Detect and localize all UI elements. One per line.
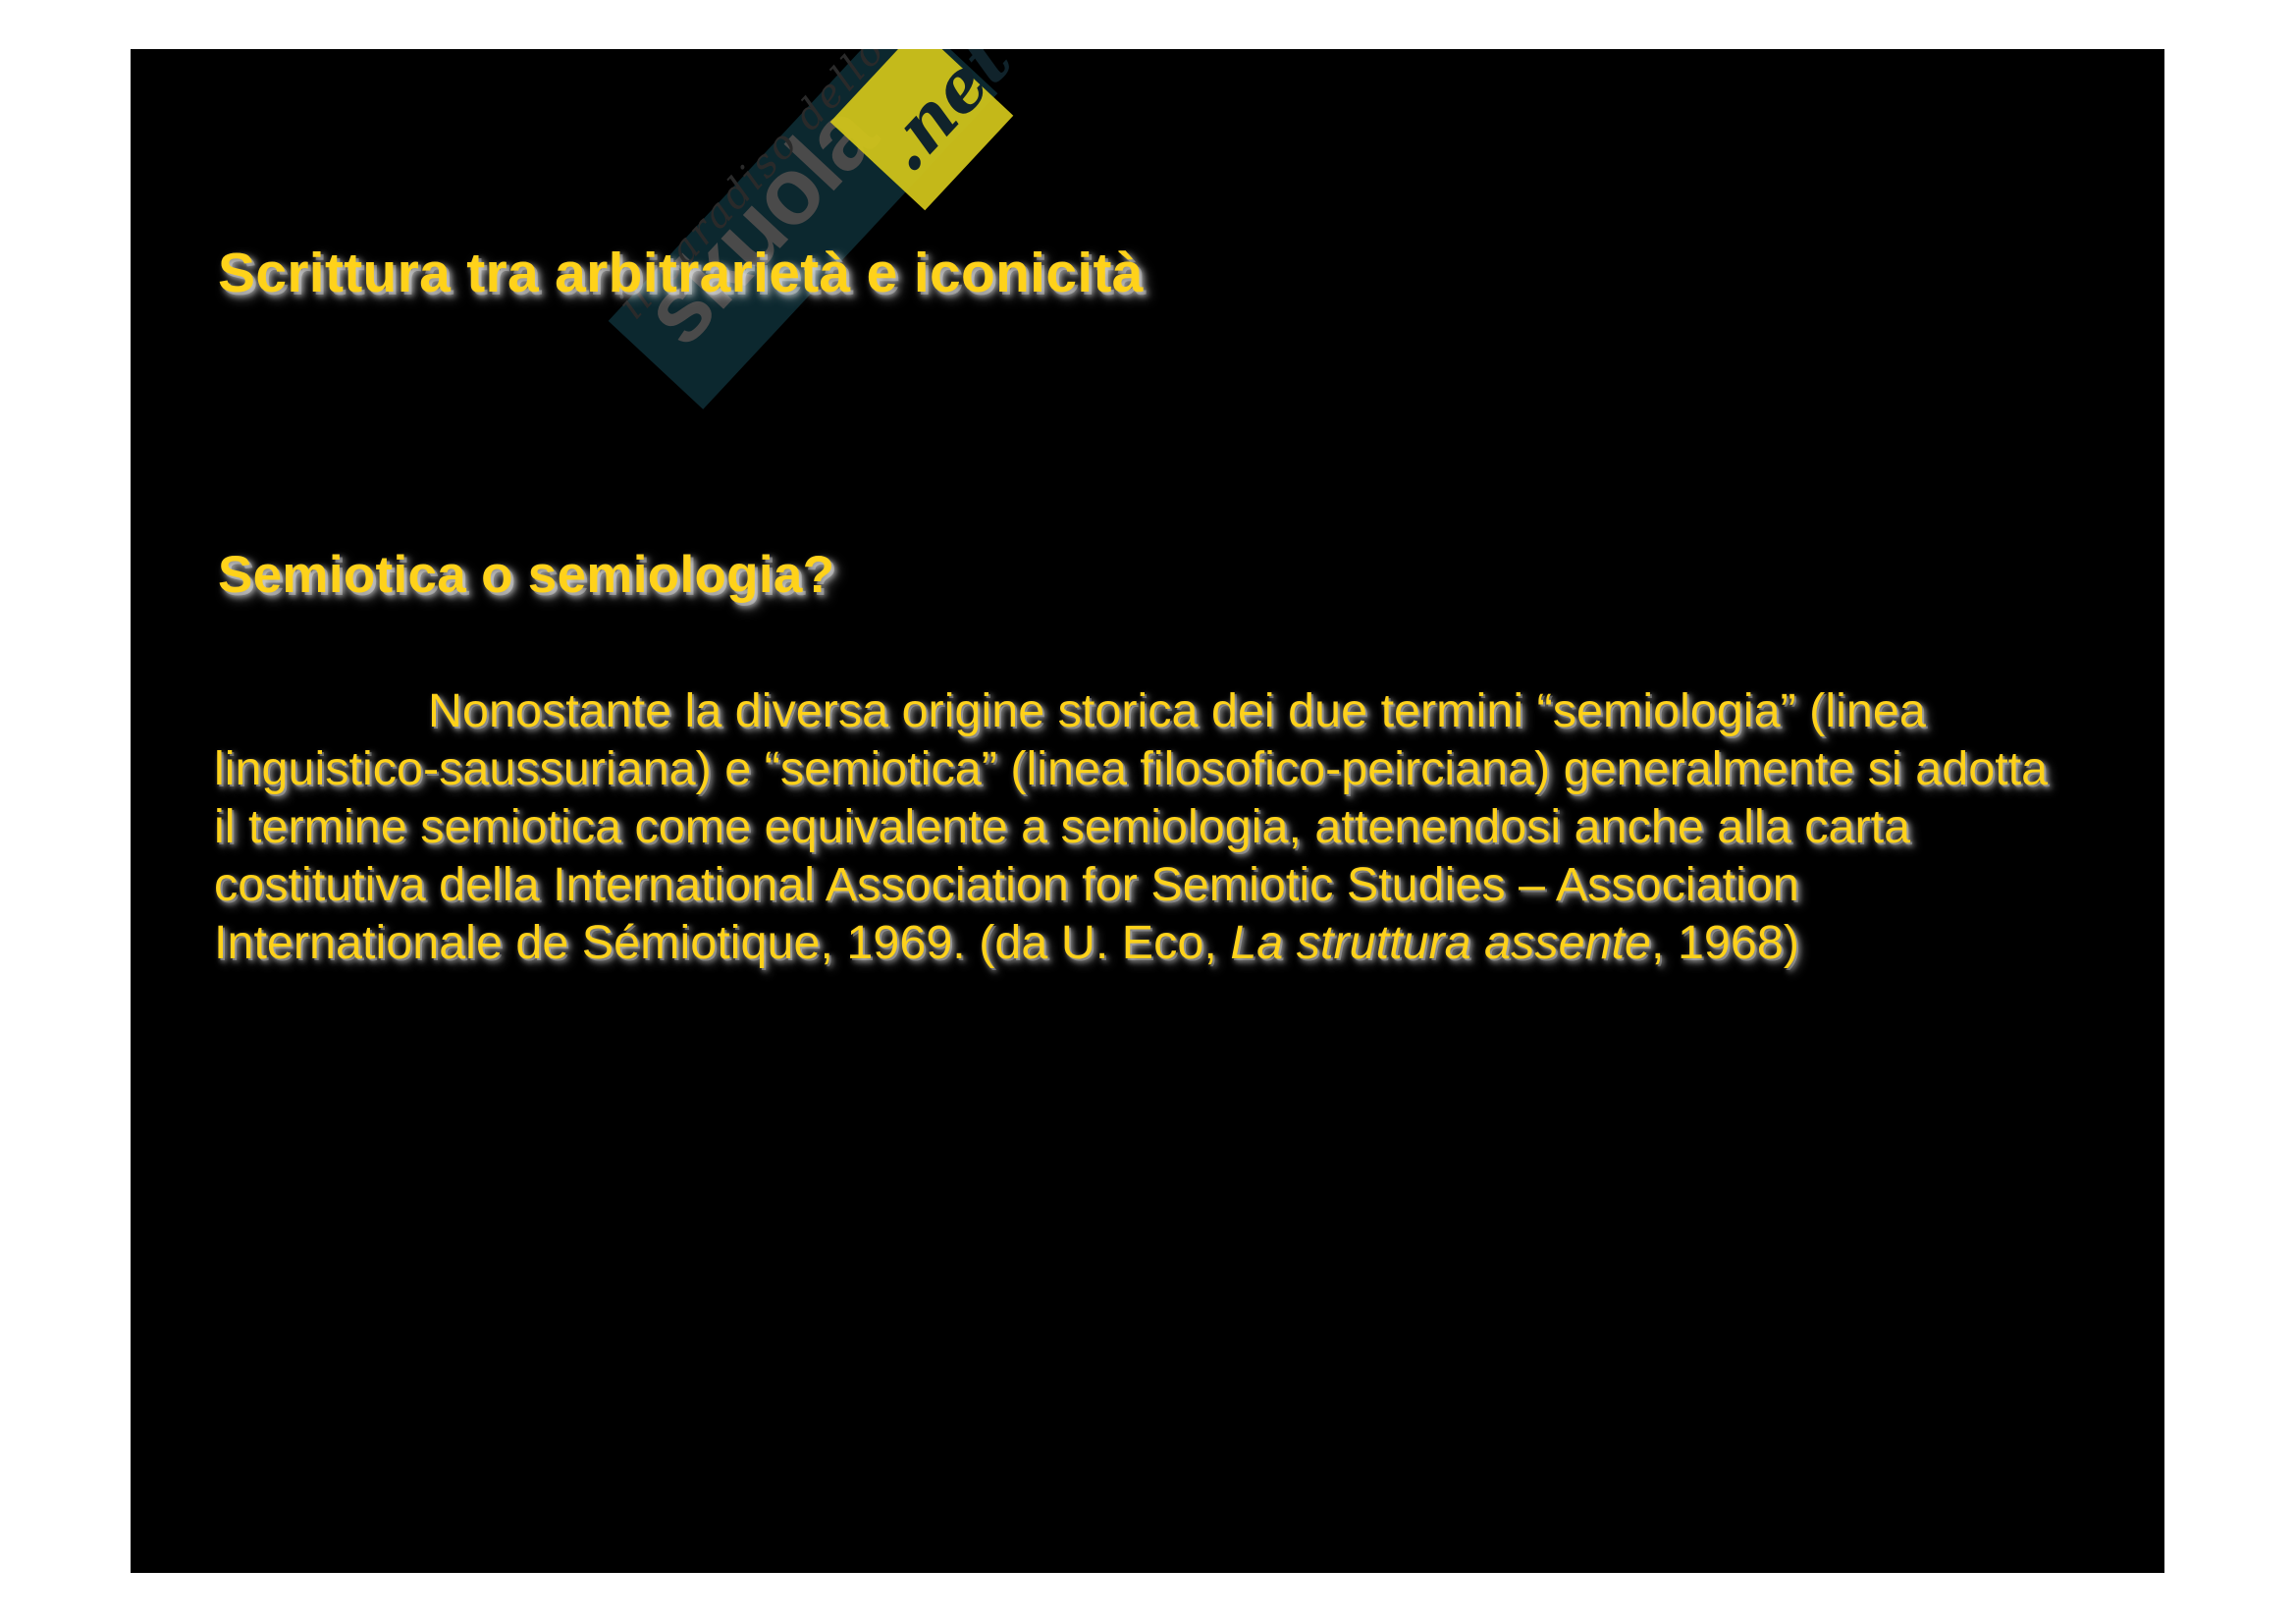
document-page: skuola .net il paradiso dello studente S… <box>0 0 2296 1623</box>
watermark-band <box>609 49 998 409</box>
body-text-tail: , 1968) <box>1651 916 1799 969</box>
slide-title: Scrittura tra arbitrarietà e iconicità <box>218 241 1144 305</box>
slide-subtitle: Semiotica o semiologia? <box>218 545 834 605</box>
skuola-net-watermark: skuola .net il paradiso dello studente <box>518 49 1127 417</box>
watermark-brand-text: skuola <box>627 53 924 361</box>
watermark-domain-text: .net <box>860 49 1005 189</box>
watermark-domain-box <box>830 49 1014 210</box>
body-book-title: La struttura assente <box>1230 916 1651 969</box>
presentation-slide: skuola .net il paradiso dello studente S… <box>131 49 2164 1573</box>
slide-body-paragraph: Nonostante la diversa origine storica de… <box>214 682 2074 972</box>
